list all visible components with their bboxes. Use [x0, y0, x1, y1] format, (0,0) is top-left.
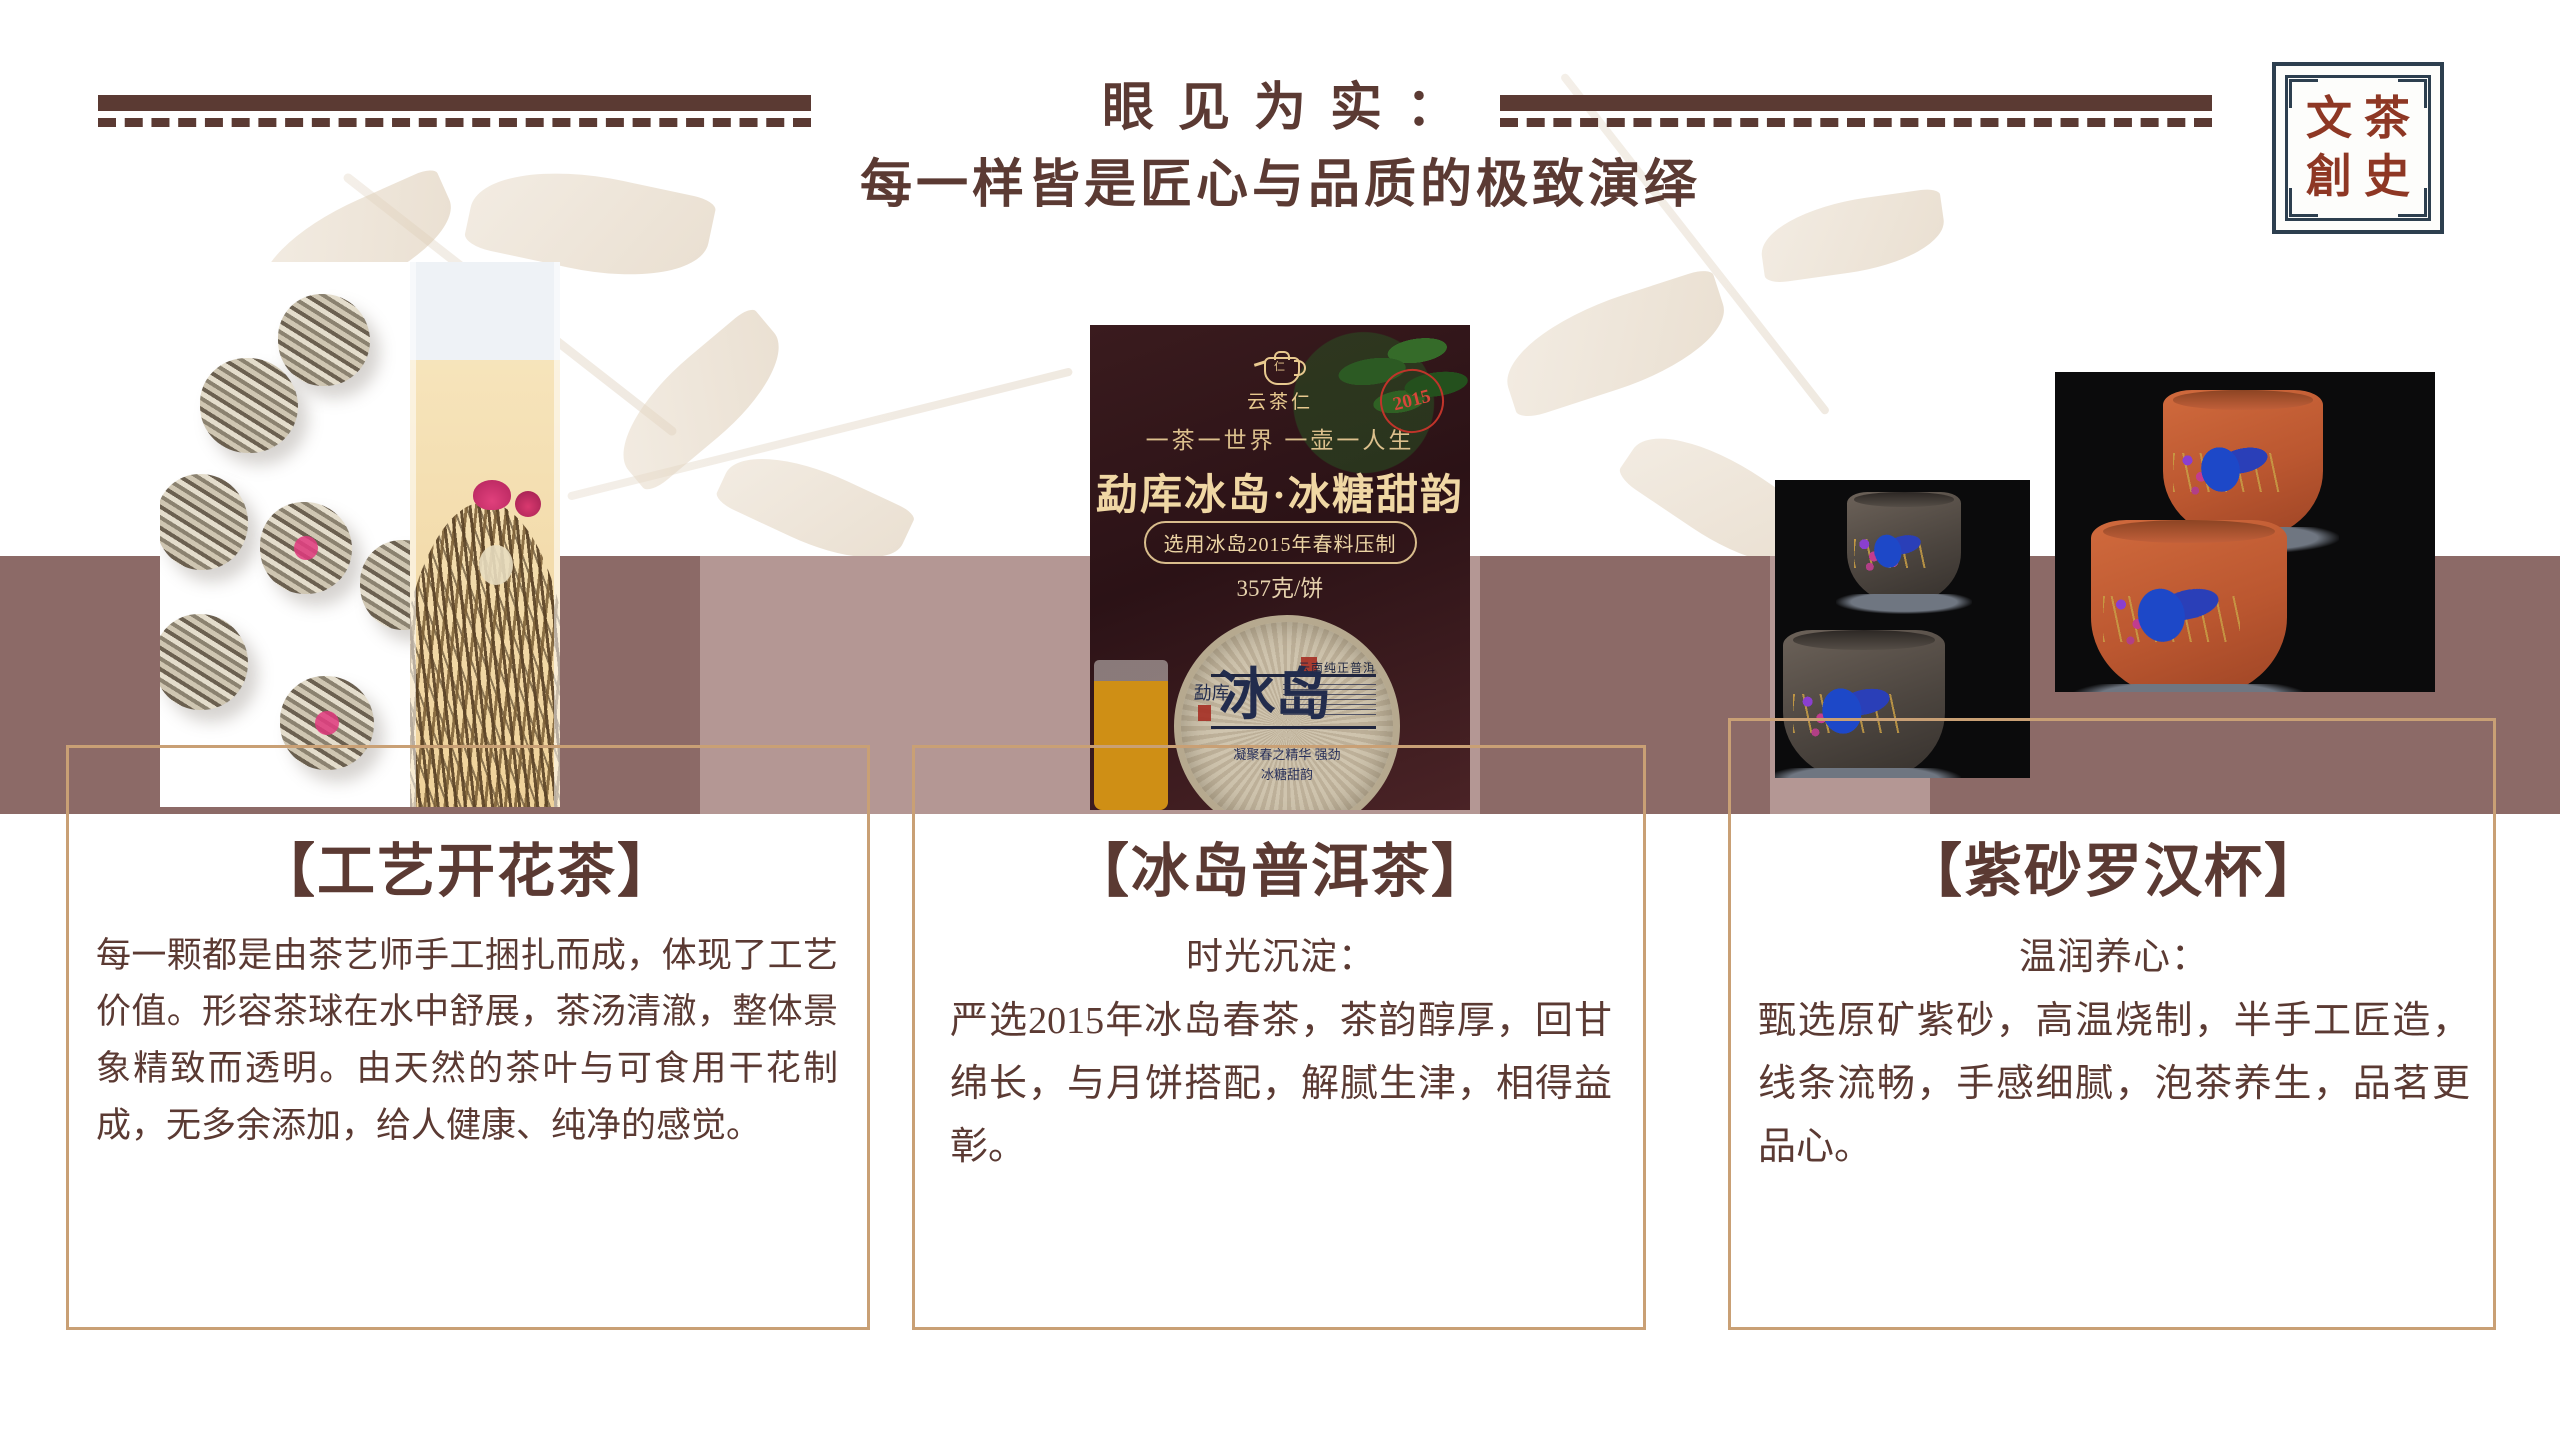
tea-ball-flower [315, 711, 339, 735]
card-lead: 温润养心： [1758, 926, 2470, 980]
title-block: 眼见为实： 每一样皆是匠心与品质的极致演绎 [640, 82, 1920, 213]
card-title: 【工艺开花茶】 [96, 840, 838, 904]
poster-pill-wrap: 选用冰岛2015年春料压制 [1090, 521, 1470, 564]
cup-rim [1854, 492, 1954, 507]
cake-body-text-lines [1283, 684, 1376, 717]
card-body: 每一颗都是由茶艺师手工捆扎而成，体现了工艺价值。形容茶球在水中舒展，茶汤清澈，整… [96, 928, 838, 1155]
product-card-1: 【工艺开花茶】 每一颗都是由茶艺师手工捆扎而成，体现了工艺价值。形容茶球在水中舒… [96, 840, 838, 1155]
poster-headline: 勐库冰岛·冰糖甜韵 [1090, 461, 1470, 522]
cup-saucer-pad [1836, 594, 1973, 614]
photo-blooming-tea-balls [160, 262, 410, 807]
card-title: 【紫砂罗汉杯】 [1758, 840, 2470, 904]
cup-rim [1793, 630, 1936, 650]
cake-red-stamp-secondary [1198, 705, 1211, 721]
teapot-handle [1294, 360, 1306, 376]
glass-edge-right [554, 262, 560, 807]
seal-char-1: 文 [2306, 96, 2352, 142]
photo-purple-clay-cups-right [2055, 372, 2435, 692]
clay-cup-red-top [2163, 390, 2323, 540]
page-title: 眼见为实： [640, 82, 1920, 137]
tea-ball [278, 294, 370, 386]
card-body: 严选2015年冰岛春茶，茶韵醇厚，回甘绵长，与月饼搭配，解腻生津，相得益彰。 [950, 990, 1612, 1179]
product-card-3: 【紫砂罗汉杯】 温润养心： 甄选原矿紫砂，高温烧制，半手工匠造，线条流畅，手感细… [1758, 840, 2470, 1179]
seal-char-3: 創 [2306, 154, 2352, 200]
tea-ball [200, 358, 298, 453]
tea-ball [160, 474, 248, 570]
teapot-lid [1274, 351, 1290, 360]
poster-stage: 眼见为实： 每一样皆是匠心与品质的极致演绎 文 茶 創 史 [0, 0, 2560, 1440]
teapot-icon: 仁 [1254, 351, 1306, 383]
red-flower [473, 480, 511, 510]
red-flower-secondary [515, 491, 541, 517]
poster-subtitle-pill: 选用冰岛2015年春料压制 [1144, 521, 1417, 564]
photo-puer-tea-poster: 仁 云茶仁 一茶一世界 一壶一人生 勐库冰岛·冰糖甜韵 选用冰岛2015年春料压… [1090, 325, 1470, 810]
page-subtitle: 每一样皆是匠心与品质的极致演绎 [640, 159, 1920, 214]
clay-cup-dark-small [1847, 492, 1961, 604]
card-body: 甄选原矿紫砂，高温烧制，半手工匠造，线条流畅，手感细腻，泡茶养生，品茗更品心。 [1758, 990, 2470, 1179]
brand-seal-logo: 文 茶 創 史 [2272, 62, 2444, 234]
product-card-2: 【冰岛普洱茶】 时光沉淀： 严选2015年冰岛春茶，茶韵醇厚，回甘绵长，与月饼搭… [950, 840, 1612, 1179]
tea-ball [360, 540, 410, 630]
tea-ball [160, 614, 248, 710]
card-lead: 时光沉淀： [950, 926, 1612, 980]
cup-rim [2173, 390, 2314, 410]
tea-ball-flower [294, 536, 318, 560]
cup-rim [2103, 520, 2276, 543]
photo-blooming-tea-in-glass [410, 262, 560, 807]
cup-saucer-pad [2071, 684, 2306, 692]
seal-char-4: 史 [2364, 154, 2410, 200]
tea-ball [260, 502, 352, 594]
seal-char-2: 茶 [2364, 96, 2410, 142]
poster-weight: 357克/饼 [1090, 569, 1470, 603]
watermark-leaf-3 [598, 305, 803, 495]
teapot-inner-char: 仁 [1274, 362, 1285, 373]
seal-character-grid: 文 茶 創 史 [2300, 90, 2416, 206]
header: 眼见为实： 每一样皆是匠心与品质的极致演绎 文 茶 創 史 [0, 0, 2560, 290]
clay-cup-red-large [2091, 520, 2287, 692]
glass-edge-left [410, 262, 416, 807]
watermark-branch-stem-2 [567, 367, 1073, 501]
card-title: 【冰岛普洱茶】 [950, 840, 1612, 904]
